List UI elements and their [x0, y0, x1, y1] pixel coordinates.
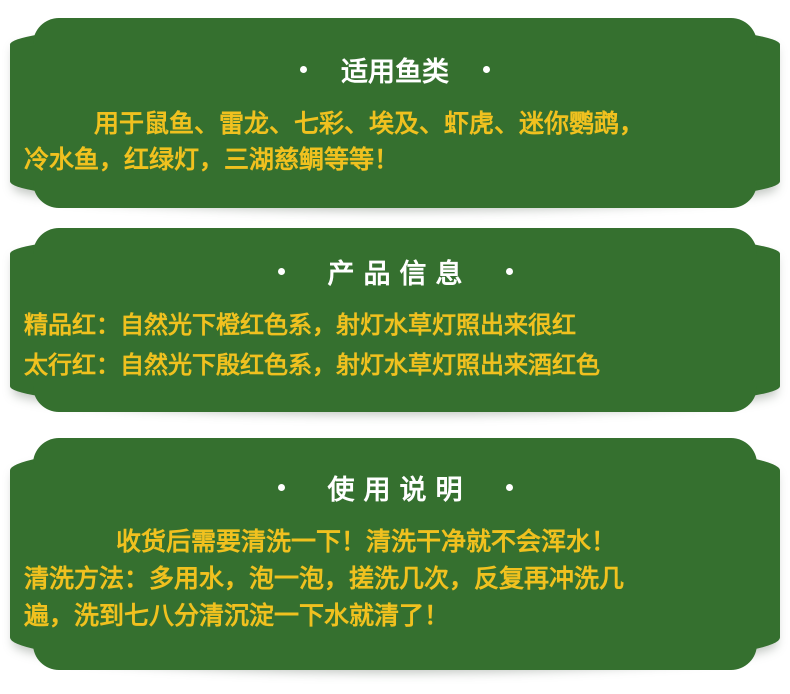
- bullet-dot-icon-right: [506, 268, 513, 275]
- panel-content: 使用说明 收货后需要清洗一下！清洗干净就不会浑水！ 清洗方法：多用水，泡一泡，搓…: [10, 438, 780, 670]
- panel-applicable-fish: 适用鱼类 用于鼠鱼、雷龙、七彩、埃及、虾虎、迷你鹦鹉， 冷水鱼，红绿灯，三湖慈鲷…: [10, 18, 780, 208]
- body-line: 精品红：自然光下橙红色系，射灯水草灯照出来很红: [24, 313, 770, 337]
- panel-content: 产品信息 精品红：自然光下橙红色系，射灯水草灯照出来很红 太行红：自然光下殷红色…: [10, 228, 780, 412]
- bullet-dot-icon-left: [278, 268, 285, 275]
- panel-title-product-information: 产品信息: [10, 228, 780, 291]
- body-line: 太行红：自然光下殷红色系，射灯水草灯照出来酒红色: [24, 353, 770, 377]
- body-line: 收货后需要清洗一下！清洗干净就不会浑水！: [24, 529, 768, 554]
- body-line: 遍，洗到七八分清沉淀一下水就清了！: [24, 603, 768, 628]
- panel-title-text: 使用说明: [319, 468, 472, 507]
- panel-body-applicable-fish: 用于鼠鱼、雷龙、七彩、埃及、虾虎、迷你鹦鹉， 冷水鱼，红绿灯，三湖慈鲷等等！: [10, 89, 780, 172]
- panel-title-text: 适用鱼类: [341, 50, 449, 89]
- body-line: 清洗方法：多用水，泡一泡，搓洗几次，反复再冲洗几: [24, 566, 768, 591]
- bullet-dot-icon-right: [506, 484, 513, 491]
- body-line: 冷水鱼，红绿灯，三湖慈鲷等等！: [24, 147, 768, 172]
- product-detail-page: 适用鱼类 用于鼠鱼、雷龙、七彩、埃及、虾虎、迷你鹦鹉， 冷水鱼，红绿灯，三湖慈鲷…: [0, 0, 790, 694]
- panel-title-text: 产品信息: [319, 252, 472, 291]
- bullet-dot-icon-left: [278, 484, 285, 491]
- bullet-dot-icon-right: [483, 66, 490, 73]
- panel-body-usage-instructions: 收货后需要清洗一下！清洗干净就不会浑水！ 清洗方法：多用水，泡一泡，搓洗几次，反…: [10, 507, 780, 628]
- panel-content: 适用鱼类 用于鼠鱼、雷龙、七彩、埃及、虾虎、迷你鹦鹉， 冷水鱼，红绿灯，三湖慈鲷…: [10, 18, 780, 208]
- panel-usage-instructions: 使用说明 收货后需要清洗一下！清洗干净就不会浑水！ 清洗方法：多用水，泡一泡，搓…: [10, 438, 780, 670]
- panel-body-product-information: 精品红：自然光下橙红色系，射灯水草灯照出来很红 太行红：自然光下殷红色系，射灯水…: [10, 291, 780, 377]
- panel-title-usage-instructions: 使用说明: [10, 438, 780, 507]
- panel-product-information: 产品信息 精品红：自然光下橙红色系，射灯水草灯照出来很红 太行红：自然光下殷红色…: [10, 228, 780, 412]
- body-line: 用于鼠鱼、雷龙、七彩、埃及、虾虎、迷你鹦鹉，: [24, 111, 768, 136]
- bullet-dot-icon-left: [300, 66, 307, 73]
- panel-title-applicable-fish: 适用鱼类: [10, 18, 780, 89]
